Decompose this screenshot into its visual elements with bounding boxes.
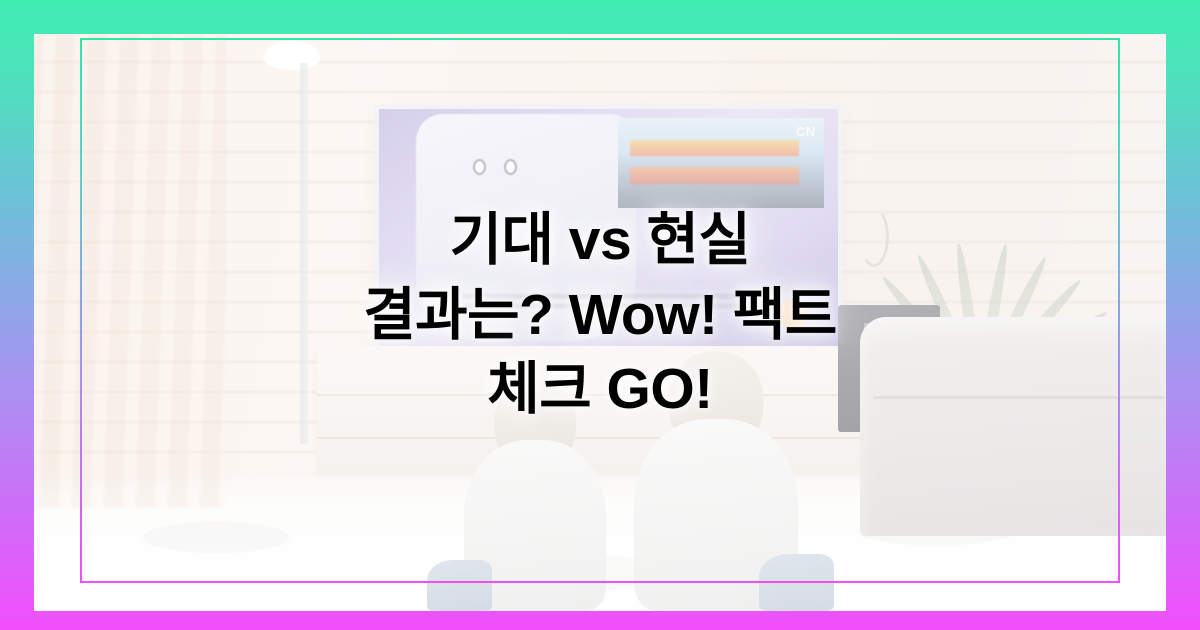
thumbnail-card: CN — [0, 0, 1200, 630]
headline-line-2: 결과는? Wow! 팩트 — [363, 279, 837, 352]
headline-line-3: 체크 GO! — [487, 353, 712, 426]
headline-block: 기대 vs 현실 결과는? Wow! 팩트 체크 GO! — [0, 0, 1200, 630]
headline-line-1: 기대 vs 현실 — [450, 204, 751, 277]
